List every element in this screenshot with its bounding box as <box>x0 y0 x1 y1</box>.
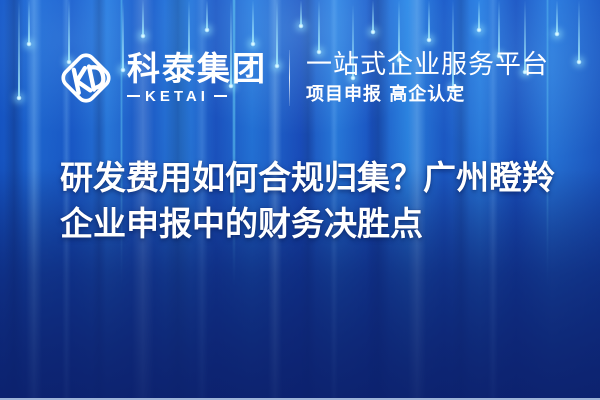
logo-wordmark: 科泰集团 KETAI <box>127 52 267 104</box>
light-streak-icon <box>18 0 20 98</box>
logo-english-name: KETAI <box>145 89 209 104</box>
slogan-sub-text: 项目申报 高企认定 <box>306 85 549 105</box>
logo-rule-left-icon <box>127 95 140 97</box>
headline-line-1: 研发费用如何合规归集？广州瞪羚 <box>60 155 570 201</box>
slogan-main-text: 一站式企业服务平台 <box>306 51 549 80</box>
logo-english-name-row: KETAI <box>127 89 267 104</box>
ketai-diamond-kd-logo-icon <box>55 47 117 109</box>
light-streak-icon <box>28 0 30 44</box>
light-streak-icon <box>478 0 480 30</box>
light-streak-icon <box>142 0 144 36</box>
light-streak-icon <box>372 0 374 32</box>
headline-block: 研发费用如何合规归集？广州瞪羚 企业申报中的财务决胜点 <box>60 155 570 247</box>
light-streak-icon <box>206 0 208 30</box>
vertical-divider-icon <box>289 50 290 106</box>
light-streak-icon <box>556 0 558 34</box>
light-streak-icon <box>300 0 302 26</box>
light-streak-icon <box>252 0 254 44</box>
promo-banner: 科泰集团 KETAI 一站式企业服务平台 项目申报 高企认定 研发费用如何合规归… <box>0 0 600 400</box>
slogan-block: 一站式企业服务平台 项目申报 高企认定 <box>306 51 549 104</box>
headline-line-2: 企业申报中的财务决胜点 <box>60 201 570 247</box>
logo-rule-right-icon <box>214 95 227 97</box>
light-streak-icon <box>578 0 580 62</box>
logo-chinese-name: 科泰集团 <box>127 52 267 87</box>
banner-header: 科泰集团 KETAI 一站式企业服务平台 项目申报 高企认定 <box>55 42 549 114</box>
light-streak-icon <box>428 0 430 40</box>
